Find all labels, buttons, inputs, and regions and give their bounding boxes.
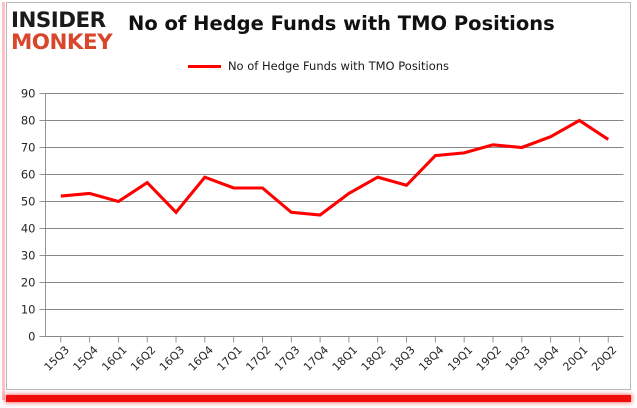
bottom-accent-bar <box>6 395 631 402</box>
legend-item-label: No of Hedge Funds with TMO Positions <box>228 59 449 73</box>
page-title: No of Hedge Funds with TMO Positions <box>128 12 555 35</box>
logo-text-monkey: MONKEY <box>11 32 117 53</box>
insider-monkey-logo: INSIDER MONKEY <box>11 10 115 50</box>
chart-legend: No of Hedge Funds with TMO Positions <box>0 59 637 73</box>
legend-color-swatch <box>188 65 221 68</box>
chart-page: INSIDER MONKEY No of Hedge Funds with TM… <box>0 0 637 408</box>
logo-text-insider: INSIDER <box>11 10 117 31</box>
